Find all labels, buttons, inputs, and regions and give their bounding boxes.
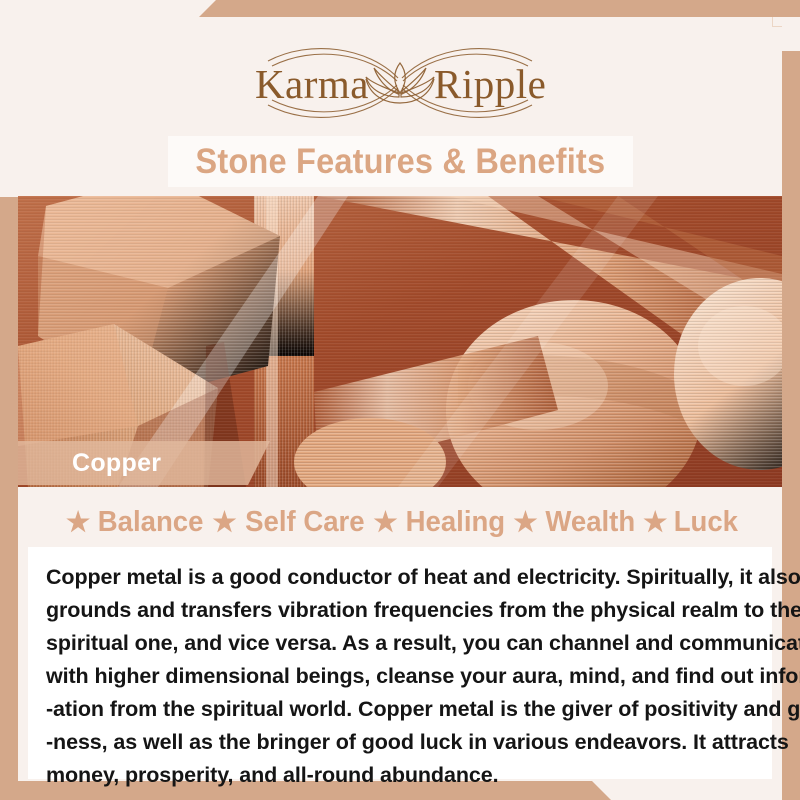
star-icon: ★ — [373, 509, 397, 536]
description-line: -ness, as well as the bringer of good lu… — [46, 726, 760, 759]
description-line: Copper metal is a good conductor of heat… — [46, 561, 760, 594]
description-line: spiritual one, and vice versa. As a resu… — [46, 627, 760, 660]
brand-name-left: Karma — [255, 61, 369, 107]
star-icon: ★ — [513, 509, 537, 536]
benefit-label: Wealth — [545, 506, 635, 539]
benefit-item-balance: ★ Balance — [60, 506, 206, 539]
page-title: Stone Features & Benefits — [196, 142, 606, 182]
brand-logo: Karma Ripple — [18, 35, 782, 131]
star-icon: ★ — [212, 509, 236, 536]
frame-left-notch — [0, 0, 18, 197]
benefit-label: Self Care — [245, 506, 364, 539]
star-icon: ★ — [643, 509, 667, 536]
benefit-item-wealth: ★ Wealth — [507, 506, 637, 539]
description-card: Copper metal is a good conductor of heat… — [28, 547, 772, 779]
product-infographic-poster: Karma Ripple Stone Features & Benefits — [0, 0, 800, 800]
benefit-item-healing: ★ Healing — [367, 506, 507, 539]
frame-top-border — [0, 0, 800, 17]
description-text: Copper metal is a good conductor of heat… — [46, 561, 760, 792]
frame-right-notch — [782, 17, 800, 51]
stone-hero-image: Copper — [18, 196, 782, 487]
benefit-item-luck: ★ Luck — [637, 506, 740, 539]
benefit-item-self-care: ★ Self Care — [206, 506, 367, 539]
benefit-label: Healing — [405, 506, 505, 539]
benefits-list: ★ Balance ★ Self Care ★ Healing ★ Wealth… — [18, 506, 782, 539]
stone-name: Copper — [72, 449, 161, 478]
headline-banner: Stone Features & Benefits — [168, 136, 633, 187]
star-icon: ★ — [66, 509, 90, 536]
benefit-label: Balance — [98, 506, 204, 539]
description-line: -ation from the spiritual world. Copper … — [46, 693, 760, 726]
brand-logo-artwork: Karma Ripple — [150, 35, 650, 131]
description-line: money, prosperity, and all-round abundan… — [46, 759, 760, 792]
brand-name-right: Ripple — [434, 61, 546, 107]
description-line: with higher dimensional beings, cleanse … — [46, 660, 760, 693]
benefit-label: Luck — [674, 506, 738, 539]
poster-inner-canvas: Karma Ripple Stone Features & Benefits — [18, 17, 782, 781]
lotus-icon — [366, 63, 434, 103]
stone-name-banner: Copper — [18, 441, 270, 485]
description-line: grounds and transfers vibration frequenc… — [46, 594, 760, 627]
